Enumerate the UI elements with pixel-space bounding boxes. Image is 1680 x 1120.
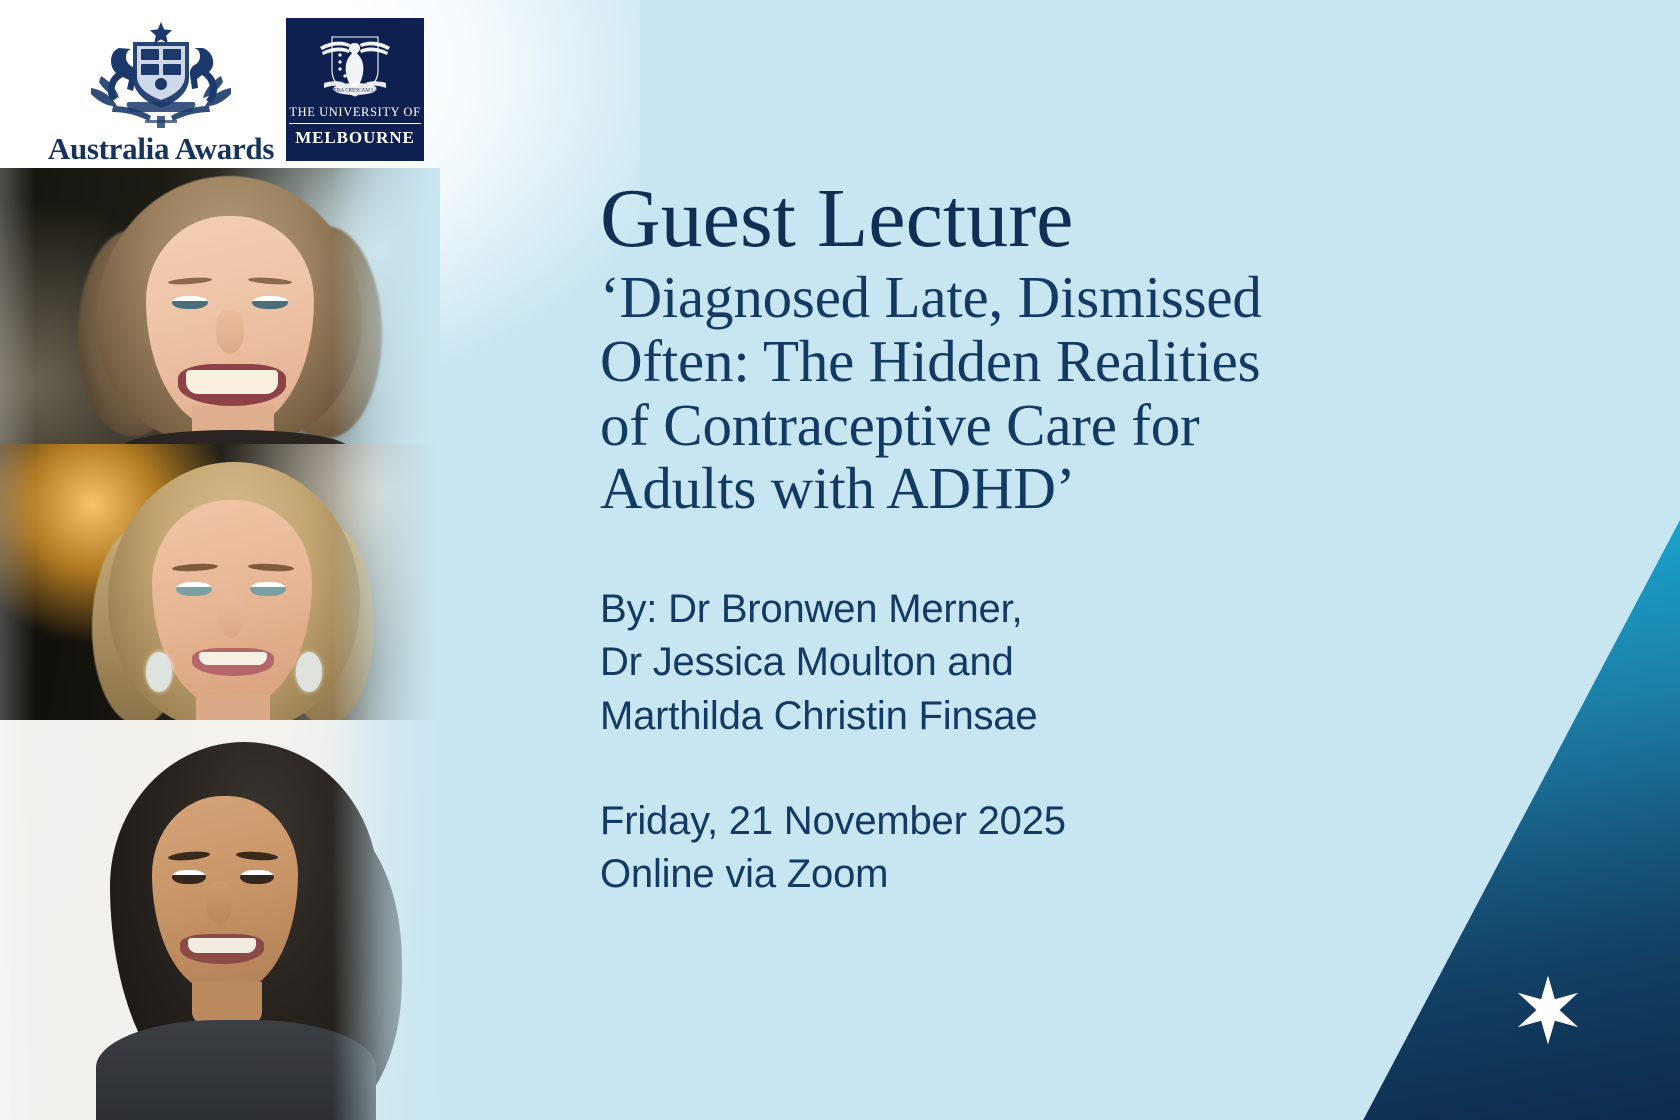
event-date: Friday, 21 November 2025	[600, 795, 1420, 848]
earring-left	[146, 652, 172, 692]
presenter-line: Dr Jessica Moulton and	[600, 636, 1420, 689]
portrait-jessica-moulton	[0, 444, 440, 720]
university-of-melbourne-logo: POSTERA CRESCAM LAUDE THE UNIVERSITY OF …	[286, 18, 424, 161]
melbourne-crest-icon: POSTERA CRESCAM LAUDE	[312, 31, 398, 101]
logo-row: Australia Awards	[62, 18, 424, 167]
portrait-bronwen-merner	[0, 168, 440, 444]
australia-awards-label: Australia Awards	[48, 131, 274, 167]
svg-text:POSTERA CRESCAM LAUDE: POSTERA CRESCAM LAUDE	[321, 88, 389, 94]
event-poster: Australia Awards	[0, 0, 1680, 1120]
unimelb-line1: THE UNIVERSITY OF	[289, 106, 420, 124]
page-title: Guest Lecture	[600, 178, 1420, 260]
presenter-line: Marthilda Christin Finsae	[600, 690, 1420, 743]
subtitle-line: of Contraceptive Care for	[600, 394, 1420, 458]
event-details-block: Friday, 21 November 2025 Online via Zoom	[600, 795, 1420, 901]
earring-right	[296, 652, 322, 692]
commonwealth-star-icon	[1512, 974, 1584, 1046]
lecture-subtitle: ‘Diagnosed Late, Dismissed Often: The Hi…	[600, 266, 1420, 521]
australian-coat-of-arms-icon	[71, 18, 251, 130]
subtitle-line: ‘Diagnosed Late, Dismissed	[600, 266, 1420, 330]
presenter-line: By: Dr Bronwen Merner,	[600, 583, 1420, 636]
presenters-block: By: Dr Bronwen Merner, Dr Jessica Moulto…	[600, 583, 1420, 743]
poster-content: Guest Lecture ‘Diagnosed Late, Dismissed…	[600, 178, 1420, 901]
speaker-portraits	[0, 168, 440, 1120]
portrait-marthilda-christin-finsae	[0, 720, 440, 1120]
australia-awards-logo: Australia Awards	[62, 18, 260, 167]
unimelb-line2: MELBOURNE	[295, 129, 415, 148]
subtitle-line: Adults with ADHD’	[600, 457, 1420, 521]
event-venue: Online via Zoom	[600, 848, 1420, 901]
subtitle-line: Often: The Hidden Realities	[600, 330, 1420, 394]
